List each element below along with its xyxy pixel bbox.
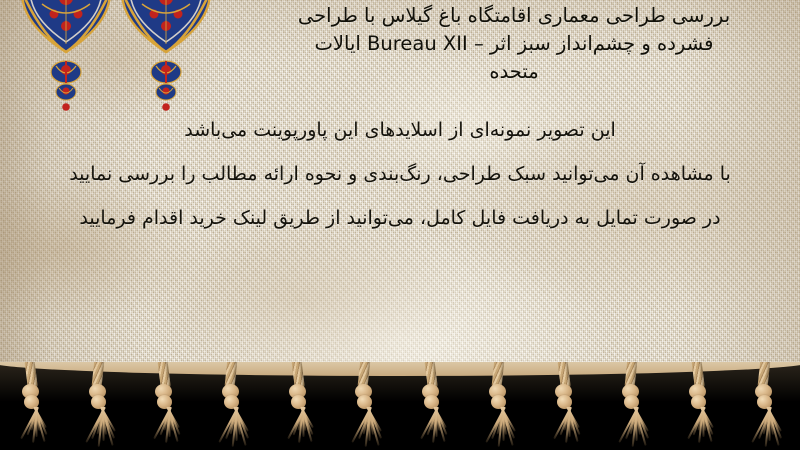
fringe-knot (753, 362, 775, 450)
fringe-tassel (91, 407, 113, 449)
body-line-review-notice: با مشاهده آن می‌توانید سبک طراحی، رنگ‌بن… (20, 152, 780, 196)
fringe-knot (553, 362, 575, 450)
fringe-knot (153, 362, 175, 450)
slide-title-line-1: بررسی طراحی معماری اقامتگاه باغ گیلاس با… (236, 2, 792, 30)
persian-medallion-icon (18, 0, 114, 116)
fringe-knot-row (0, 362, 800, 450)
fringe-knot (487, 362, 509, 450)
fringe-knot (287, 362, 309, 450)
fringe-tassel (24, 407, 46, 449)
slide-title-line-3: متحده (236, 58, 792, 86)
slide-title-line-2: فشرده و چشم‌انداز سبز اثر – Bureau XII ا… (236, 30, 792, 58)
persian-medallion-ornament-right (118, 0, 214, 120)
carpet-tassel-fringe (0, 362, 800, 450)
fringe-knot (220, 362, 242, 450)
fringe-knot (20, 362, 42, 450)
persian-medallion-ornament-left (18, 0, 114, 120)
fringe-knot (420, 362, 442, 450)
fringe-tassel (557, 407, 579, 449)
fringe-tassel (291, 407, 313, 449)
fringe-knot (87, 362, 109, 450)
canvas-background: بررسی طراحی معماری اقامتگاه باغ گیلاس با… (0, 0, 800, 372)
fringe-knot (687, 362, 709, 450)
fringe-tassel (757, 407, 779, 449)
slide-title: بررسی طراحی معماری اقامتگاه باغ گیلاس با… (236, 2, 792, 86)
fringe-knot (353, 362, 375, 450)
body-line-sample-notice: این تصویر نمونه‌ای از اسلایدهای این پاور… (20, 108, 780, 152)
fringe-tassel (224, 407, 246, 449)
slide-body-text: این تصویر نمونه‌ای از اسلایدهای این پاور… (20, 108, 780, 240)
fringe-knot (620, 362, 642, 450)
persian-medallion-icon (118, 0, 214, 116)
fringe-tassel (157, 407, 179, 449)
presentation-slide: بررسی طراحی معماری اقامتگاه باغ گیلاس با… (0, 0, 800, 450)
fringe-tassel (424, 407, 446, 449)
body-line-purchase-notice: در صورت تمایل به دریافت فایل کامل، می‌تو… (20, 196, 780, 240)
fringe-tassel (691, 407, 713, 449)
fringe-tassel (357, 407, 379, 449)
fringe-tassel (624, 407, 646, 449)
fringe-tassel (491, 407, 513, 449)
